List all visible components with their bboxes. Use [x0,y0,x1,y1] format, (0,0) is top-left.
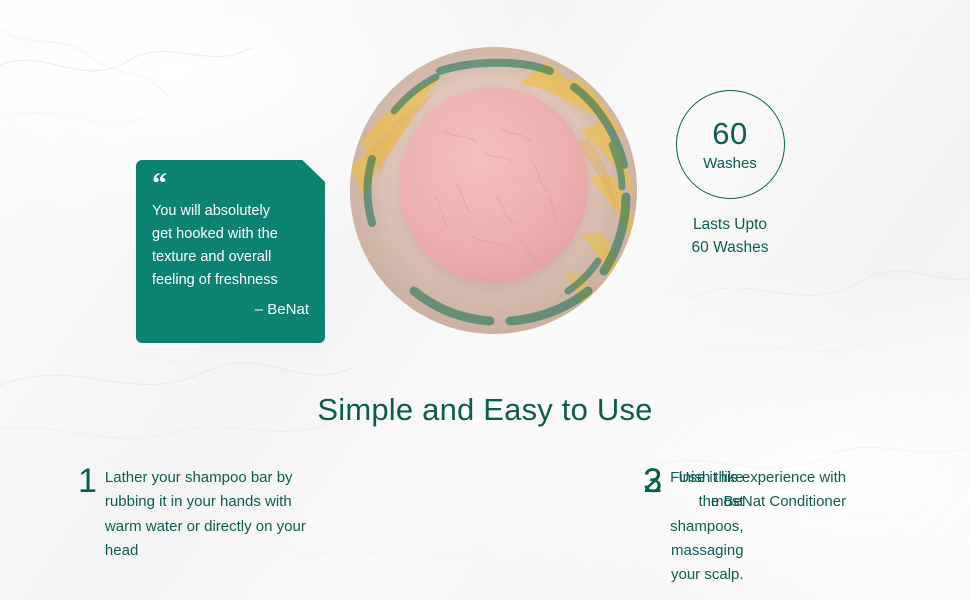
washes-badge: 60 Washes Lasts Upto 60 Washes [665,90,795,260]
washes-count: 60 [712,118,747,149]
product-photo [350,47,637,334]
shampoo-bar-surface-texture [399,87,589,283]
step-item-1: 1 Lather your shampoo bar by rubbing it … [0,466,313,587]
step-item-2: 2 Use it like most shampoos, massaging y… [313,466,643,587]
washes-caption: Lasts Upto 60 Washes [665,214,795,260]
testimonial-text: You will absolutely get hooked with the … [152,200,309,292]
washes-caption-line-2: 60 Washes [665,237,795,260]
section-heading: Simple and Easy to Use [0,392,970,428]
testimonial-card: “ You will absolutely get hooked with th… [136,160,325,343]
shampoo-bar [399,87,588,282]
step-line: rubbing it in your hands with [105,490,313,514]
steps-list: 1 Lather your shampoo bar by rubbing it … [0,466,970,587]
step-item-3: 3 Finish this experience with the BeNat … [643,466,970,587]
product-infographic: “ You will absolutely get hooked with th… [0,0,970,600]
washes-badge-circle: 60 Washes [676,90,785,199]
testimonial-author: – BeNat [152,301,309,318]
washes-unit-label: Washes [703,156,757,171]
step-line: warm water or directly on your head [105,515,313,564]
step-line: the BeNat Conditioner [670,490,846,514]
testimonial-line: You will absolutely [152,200,309,223]
step-number-3: 3 [643,466,662,497]
washes-caption-line-1: Lasts Upto [665,214,795,237]
step-text-1: Lather your shampoo bar by rubbing it in… [105,466,313,563]
quote-mark-icon: “ [152,172,309,196]
testimonial-line: get hooked with the [152,223,309,246]
step-line: Lather your shampoo bar by [105,466,313,490]
step-text-3: Finish this experience with the BeNat Co… [670,466,846,515]
testimonial-line: texture and overall [152,246,309,269]
testimonial-line: feeling of freshness [152,269,309,292]
step-line: Finish this experience with [670,466,846,490]
step-number-1: 1 [78,466,97,497]
